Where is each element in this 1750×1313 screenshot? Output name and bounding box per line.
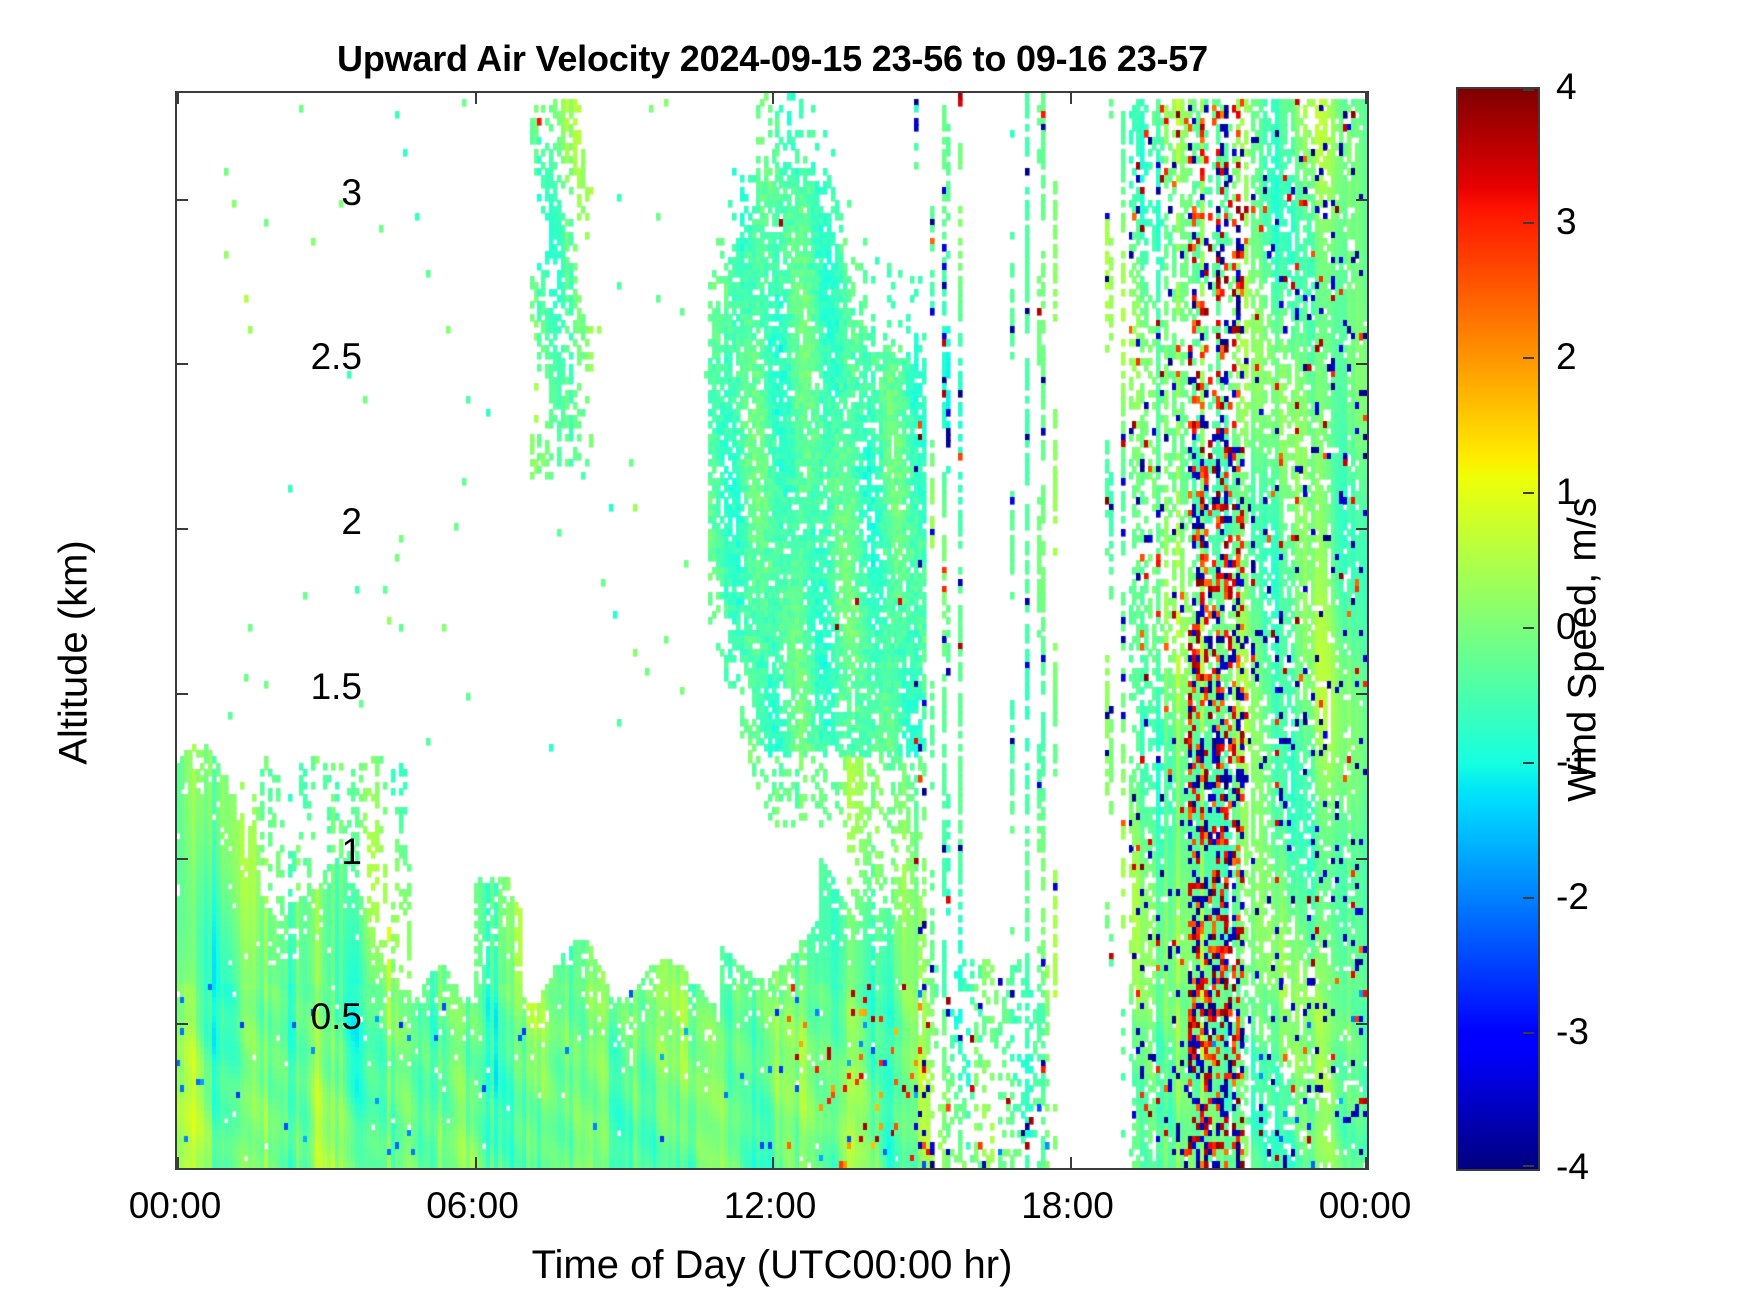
y-tick-label-3: 3: [341, 172, 362, 214]
y-tick-right-1: [1356, 858, 1367, 860]
y-tick-2: [177, 528, 188, 530]
colorbar-tick-0: [1523, 89, 1534, 91]
x-tick-label-3: 18:00: [1021, 1185, 1114, 1227]
y-tick-1.5: [177, 693, 188, 695]
x-tick-3: [1070, 1157, 1072, 1168]
x-tick-top-3: [1070, 93, 1072, 104]
y-tick-0.5: [177, 1023, 188, 1025]
y-tick-label-0.5: 0.5: [311, 996, 362, 1038]
colorbar-tick-5: [1523, 762, 1534, 764]
x-axis-label: Time of Day (UTC00:00 hr): [175, 1243, 1369, 1288]
x-tick-1: [475, 1157, 477, 1168]
x-tick-0: [177, 1157, 179, 1168]
colorbar-tick-label-0: 4: [1556, 66, 1577, 108]
colorbar-tick-label-7: -3: [1556, 1011, 1589, 1053]
page-title: Upward Air Velocity 2024-09-15 23-56 to …: [175, 38, 1370, 80]
x-tick-top-1: [475, 93, 477, 104]
colorbar-tick-4: [1523, 627, 1534, 629]
y-tick-2.5: [177, 363, 188, 365]
y-tick-right-0.5: [1356, 1023, 1367, 1025]
y-axis-label: Altitude (km): [52, 383, 97, 923]
colorbar-tick-label-1: 3: [1556, 201, 1577, 243]
colorbar: 43210-1-2-3-4: [1456, 87, 1536, 1167]
y-tick-label-1: 1: [341, 831, 362, 873]
colorbar-tick-3: [1523, 492, 1534, 494]
x-tick-top-4: [1365, 93, 1367, 104]
x-tick-top-2: [772, 93, 774, 104]
colorbar-tick-label-8: -4: [1556, 1146, 1589, 1188]
y-tick-right-1.5: [1356, 693, 1367, 695]
colorbar-label: Wind Speed, m/s: [1561, 370, 1606, 930]
colorbar-tick-2: [1523, 357, 1534, 359]
colorbar-tick-1: [1523, 222, 1534, 224]
x-tick-2: [772, 1157, 774, 1168]
y-tick-3: [177, 199, 188, 201]
colorbar-tick-7: [1523, 1032, 1534, 1034]
x-tick-top-0: [177, 93, 179, 104]
y-tick-label-2: 2: [341, 501, 362, 543]
y-tick-label-2.5: 2.5: [311, 336, 362, 378]
x-tick-label-0: 00:00: [129, 1185, 222, 1227]
x-tick-4: [1365, 1157, 1367, 1168]
y-tick-right-3: [1356, 199, 1367, 201]
colorbar-tick-8: [1523, 1165, 1534, 1167]
y-tick-label-1.5: 1.5: [311, 666, 362, 708]
y-tick-right-2: [1356, 528, 1367, 530]
y-tick-1: [177, 858, 188, 860]
colorbar-gradient: [1456, 87, 1540, 1171]
figure-canvas: Upward Air Velocity 2024-09-15 23-56 to …: [0, 0, 1750, 1313]
colorbar-tick-6: [1523, 897, 1534, 899]
x-tick-label-1: 06:00: [426, 1185, 519, 1227]
x-tick-label-2: 12:00: [724, 1185, 817, 1227]
x-tick-label-4: 00:00: [1319, 1185, 1412, 1227]
y-tick-right-2.5: [1356, 363, 1367, 365]
